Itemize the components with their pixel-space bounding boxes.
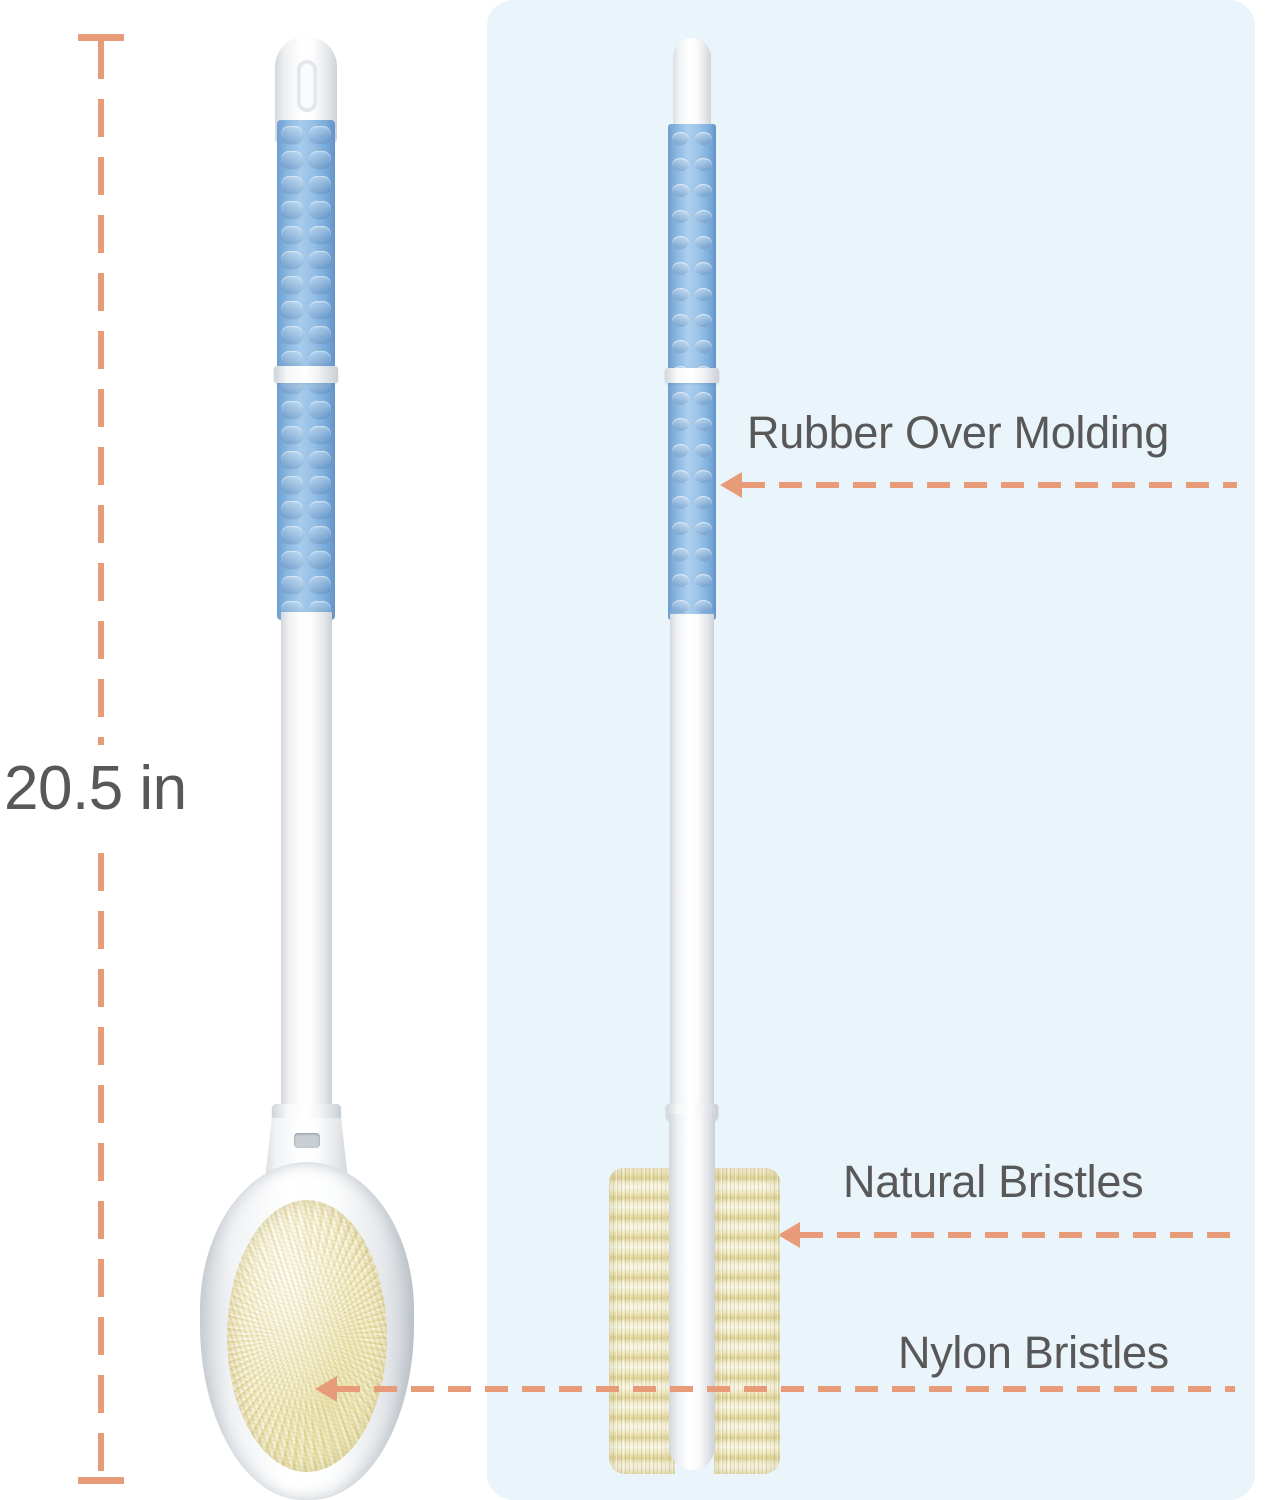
grip-ridge [309, 126, 331, 143]
grip-dimple [672, 418, 689, 431]
grip-dimple [695, 392, 712, 405]
grip-ridge [309, 551, 331, 568]
grip-dimple [672, 548, 689, 561]
grip-ridge [309, 401, 331, 418]
grip-dimple [695, 314, 712, 327]
product-infographic: 20.5 in Rubber Over Moldin [0, 0, 1272, 1500]
dimension-cap-bottom [78, 1477, 124, 1484]
handle-shaft-front [281, 612, 332, 1112]
dimension-label: 20.5 in [0, 753, 250, 824]
grip-dimple [695, 184, 712, 197]
grip-dimple [672, 288, 689, 301]
grip-dimple [695, 158, 712, 171]
grip-dimple [695, 548, 712, 561]
grip-ridge [309, 176, 331, 193]
grip-ridge [281, 251, 303, 268]
grip-ridge [309, 251, 331, 268]
callout-arrow-head-rubber [720, 472, 742, 498]
grip-dimple [672, 262, 689, 275]
grip-dimple [695, 132, 712, 145]
grip-ridge [281, 476, 303, 493]
grip-ridge [281, 576, 303, 593]
grip-ridge [281, 301, 303, 318]
grip-ridge [281, 151, 303, 168]
grip-dimple [695, 496, 712, 509]
bristle-hairs-left [609, 1168, 675, 1474]
grip-dimple [672, 574, 689, 587]
grip-ridge [281, 526, 303, 543]
grip-ridge [281, 126, 303, 143]
detail-panel-background [487, 0, 1255, 1500]
grip-ridge [309, 301, 331, 318]
grip-ridge [281, 276, 303, 293]
grip-dimple [695, 210, 712, 223]
hanging-hole-inner [301, 64, 313, 108]
grip-dimple [672, 470, 689, 483]
grip-dimple [695, 418, 712, 431]
grip-ridge [281, 401, 303, 418]
bristle-hairs-right [714, 1168, 780, 1474]
grip-ridge [309, 501, 331, 518]
grip-dimple [672, 236, 689, 249]
grip-ridge [309, 476, 331, 493]
grip-dimple [695, 262, 712, 275]
brush-head-spine-side [669, 1114, 715, 1470]
grip-dimple [695, 444, 712, 457]
grip-ridge [309, 151, 331, 168]
handle-shaft-side [670, 614, 714, 1114]
grip-dimple [672, 132, 689, 145]
grip-dimple [695, 470, 712, 483]
grip-dimple [695, 236, 712, 249]
callout-label-nylon-bristles: Nylon Bristles [898, 1327, 1169, 1379]
grip-ridge [281, 501, 303, 518]
callout-arrow-line-natural [800, 1232, 1236, 1238]
grip-ridge [309, 276, 331, 293]
grip-dimple [672, 184, 689, 197]
callout-arrow-line-nylon [337, 1386, 1235, 1392]
grip-dimple [695, 574, 712, 587]
callout-arrow-line-rubber [742, 482, 1237, 488]
grip-dimple [695, 288, 712, 301]
neck-slot-detail [294, 1133, 320, 1148]
grip-dimple [672, 158, 689, 171]
grip-ridge [281, 426, 303, 443]
grip-dimple [672, 444, 689, 457]
grip-ridge [281, 226, 303, 243]
grip-ridge [281, 326, 303, 343]
grip-ridge [309, 426, 331, 443]
grip-dimple [672, 340, 689, 353]
grip-dimple [672, 496, 689, 509]
callout-arrow-head-nylon [315, 1376, 337, 1402]
grip-ridge [309, 576, 331, 593]
callout-label-rubber-over-molding: Rubber Over Molding [747, 407, 1169, 459]
grip-dimple [672, 600, 689, 613]
grip-ridge [309, 451, 331, 468]
grip-joint-band-front [274, 366, 338, 383]
dimension-cap-top [78, 34, 124, 41]
grip-ridge [281, 451, 303, 468]
callout-label-natural-bristles: Natural Bristles [843, 1156, 1143, 1208]
brush-head-rim-shading [200, 1162, 414, 1500]
grip-ridge [281, 201, 303, 218]
grip-dimple [672, 522, 689, 535]
grip-joint-band-side [665, 368, 719, 383]
grip-ridge [281, 176, 303, 193]
grip-ridge [309, 526, 331, 543]
grip-ridge [309, 326, 331, 343]
grip-dimple [695, 600, 712, 613]
grip-dimple [672, 210, 689, 223]
grip-ridge [309, 201, 331, 218]
grip-dimple [695, 522, 712, 535]
grip-ridge [281, 551, 303, 568]
grip-dimple [695, 340, 712, 353]
grip-dimple [672, 314, 689, 327]
grip-dimple [672, 392, 689, 405]
callout-arrow-head-natural [778, 1222, 800, 1248]
grip-ridge [309, 226, 331, 243]
